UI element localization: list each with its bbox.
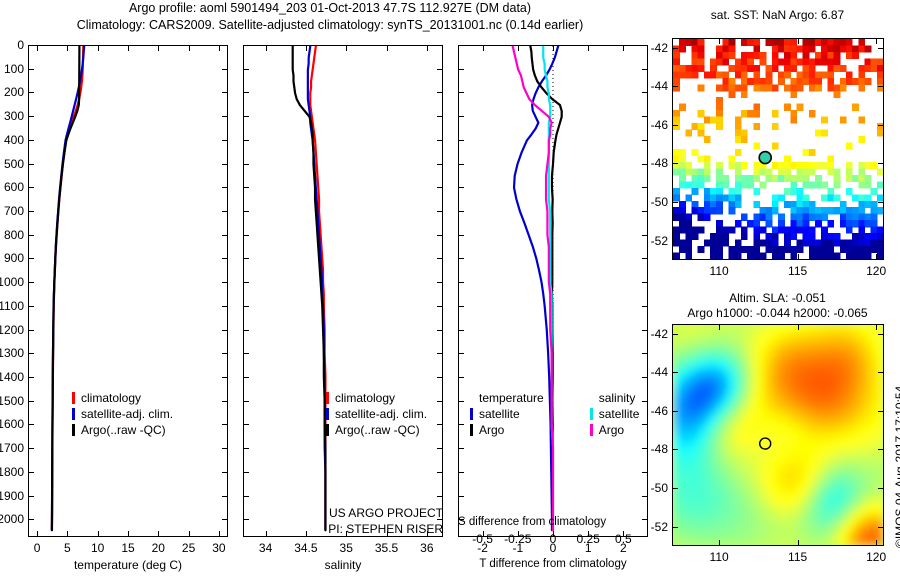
axis-tick bbox=[219, 45, 220, 51]
axis-tick-label: 34 bbox=[259, 541, 272, 555]
depth-tick bbox=[642, 69, 648, 70]
depth-tick bbox=[458, 187, 464, 188]
depth-tick bbox=[28, 330, 34, 331]
depth-tick bbox=[437, 401, 443, 402]
depth-tick bbox=[437, 69, 443, 70]
latitude-tick bbox=[672, 372, 678, 373]
latitude-tick-label: -42 bbox=[636, 41, 668, 55]
temperature-profile-panel bbox=[28, 45, 228, 537]
depth-tick bbox=[243, 472, 249, 473]
axis-tick bbox=[387, 45, 388, 51]
axis-tick bbox=[128, 531, 129, 537]
depth-tick bbox=[28, 92, 34, 93]
depth-tick bbox=[222, 69, 228, 70]
depth-tick-label: 500 bbox=[0, 157, 24, 171]
depth-tick-label: 800 bbox=[0, 228, 24, 242]
depth-tick bbox=[28, 282, 34, 283]
depth-tick bbox=[222, 116, 228, 117]
depth-tick bbox=[642, 211, 648, 212]
longitude-tick-label: 110 bbox=[710, 264, 729, 278]
depth-tick bbox=[28, 448, 34, 449]
sst-profile-marker bbox=[759, 152, 771, 164]
difference-profile-panel bbox=[458, 45, 648, 537]
depth-tick bbox=[28, 164, 34, 165]
depth-tick-label: 600 bbox=[0, 180, 24, 194]
latitude-tick bbox=[672, 241, 678, 242]
depth-tick-label: 300 bbox=[0, 109, 24, 123]
depth-tick bbox=[222, 45, 228, 46]
depth-tick-label: 1600 bbox=[0, 417, 24, 431]
depth-tick bbox=[243, 330, 249, 331]
axis-tick bbox=[98, 45, 99, 51]
longitude-tick-label: 120 bbox=[866, 264, 886, 278]
latitude-tick bbox=[878, 449, 884, 450]
axis-tick-label: 34.5 bbox=[294, 541, 317, 555]
latitude-tick-label: -48 bbox=[636, 442, 668, 456]
depth-tick bbox=[458, 69, 464, 70]
latitude-tick bbox=[672, 202, 678, 203]
latitude-tick bbox=[672, 449, 678, 450]
latitude-tick bbox=[878, 86, 884, 87]
axis-tick-label: 5 bbox=[64, 541, 71, 555]
s-axis-tick-label: 0.25 bbox=[576, 532, 599, 546]
latitude-tick-label: -52 bbox=[636, 234, 668, 248]
legend-label: Argo(..raw -QC) bbox=[335, 422, 420, 438]
sst-map-panel bbox=[672, 38, 884, 260]
axis-tick bbox=[588, 45, 589, 51]
depth-tick bbox=[437, 187, 443, 188]
salinity-profile-plot bbox=[244, 46, 442, 536]
s-axis-tick-label: 0 bbox=[550, 532, 557, 546]
axis-tick bbox=[266, 45, 267, 51]
legend-item: Argo bbox=[590, 422, 640, 438]
depth-tick bbox=[458, 116, 464, 117]
difference-legend: temperaturesatelliteArgosalinitysatellit… bbox=[470, 390, 645, 438]
latitude-tick bbox=[878, 488, 884, 489]
latitude-tick-label: -50 bbox=[636, 481, 668, 495]
axis-tick bbox=[37, 45, 38, 51]
axis-tick bbox=[346, 45, 347, 51]
s-axis-tick-label: -0.5 bbox=[472, 532, 493, 546]
longitude-tick bbox=[798, 38, 799, 44]
latitude-tick-label: -52 bbox=[636, 520, 668, 534]
legend-color-swatch bbox=[590, 424, 593, 436]
depth-tick-label: 1200 bbox=[0, 323, 24, 337]
axis-tick bbox=[553, 45, 554, 51]
depth-tick-label: 1500 bbox=[0, 394, 24, 408]
legend-label: satellite bbox=[599, 406, 640, 422]
axis-tick bbox=[37, 531, 38, 537]
depth-tick-label: 900 bbox=[0, 251, 24, 265]
legend-label: satellite-adj. clim. bbox=[81, 406, 173, 422]
s-axis-tick-label: 0.5 bbox=[615, 532, 632, 546]
t-difference-axis-label: T difference from climatology bbox=[453, 558, 653, 570]
depth-tick bbox=[642, 496, 648, 497]
latitude-tick-label: -46 bbox=[636, 404, 668, 418]
difference-profile-plot bbox=[459, 46, 647, 536]
s-difference-axis-label: S difference from climatology bbox=[458, 516, 648, 528]
depth-tick bbox=[437, 282, 443, 283]
depth-tick bbox=[222, 424, 228, 425]
temperature-profile-plot bbox=[29, 46, 227, 536]
depth-tick bbox=[28, 401, 34, 402]
axis-tick bbox=[189, 531, 190, 537]
depth-tick bbox=[222, 140, 228, 141]
longitude-tick bbox=[798, 254, 799, 260]
salinity-profile-panel bbox=[243, 45, 443, 537]
legend-column-title: salinity bbox=[599, 390, 640, 406]
longitude-tick-label: 110 bbox=[710, 550, 729, 564]
sst-map-title: sat. SST: NaN Argo: 6.87 bbox=[660, 8, 895, 23]
legend-item: Argo bbox=[470, 422, 544, 438]
legend-item: satellite bbox=[470, 406, 544, 422]
latitude-tick-label: -46 bbox=[636, 118, 668, 132]
imos-credit: ©IMOS 04-Aug-2017 17:10:54 bbox=[893, 386, 900, 548]
depth-tick bbox=[642, 353, 648, 354]
depth-tick bbox=[222, 164, 228, 165]
latitude-tick bbox=[672, 527, 678, 528]
axis-tick bbox=[67, 45, 68, 51]
depth-tick bbox=[458, 92, 464, 93]
depth-tick bbox=[243, 116, 249, 117]
sla-map-title-line1: Altim. SLA: -0.051 bbox=[660, 291, 895, 306]
axis-tick bbox=[158, 45, 159, 51]
longitude-tick bbox=[719, 254, 720, 260]
sla-map-title-line2: Argo h1000: -0.044 h2000: -0.065 bbox=[660, 306, 895, 321]
depth-tick bbox=[437, 377, 443, 378]
depth-tick-label: 1900 bbox=[0, 489, 24, 503]
axis-tick-label: 0 bbox=[34, 541, 41, 555]
depth-tick bbox=[437, 472, 443, 473]
axis-tick bbox=[518, 45, 519, 51]
latitude-tick bbox=[878, 372, 884, 373]
depth-tick bbox=[222, 235, 228, 236]
legend-column: salinitysatelliteArgo bbox=[590, 390, 640, 438]
latitude-tick-label: -50 bbox=[636, 195, 668, 209]
depth-tick-label: 200 bbox=[0, 85, 24, 99]
legend-color-swatch bbox=[470, 424, 473, 436]
longitude-tick bbox=[719, 38, 720, 44]
depth-tick bbox=[28, 116, 34, 117]
depth-tick-label: 2000 bbox=[0, 512, 24, 526]
legend-color-swatch bbox=[470, 408, 473, 420]
axis-tick-label: 25 bbox=[182, 541, 195, 555]
longitude-tick-label: 120 bbox=[866, 550, 886, 564]
latitude-tick-label: -42 bbox=[636, 327, 668, 341]
longitude-tick bbox=[876, 38, 877, 44]
depth-tick-label: 100 bbox=[0, 62, 24, 76]
depth-tick bbox=[437, 496, 443, 497]
depth-tick bbox=[243, 496, 249, 497]
legend-item: Argo(..raw -QC) bbox=[326, 422, 427, 438]
longitude-tick-label: 115 bbox=[788, 550, 807, 564]
legend-color-swatch bbox=[72, 408, 75, 420]
longitude-tick bbox=[876, 254, 877, 260]
page-title-line1: Argo profile: aoml 5901494_203 01-Oct-20… bbox=[0, 0, 660, 17]
depth-tick bbox=[458, 164, 464, 165]
latitude-tick bbox=[878, 411, 884, 412]
salinity-axis-label: salinity bbox=[243, 558, 443, 572]
depth-tick bbox=[243, 211, 249, 212]
depth-tick bbox=[28, 45, 34, 46]
legend-column-title: temperature bbox=[479, 390, 544, 406]
depth-tick bbox=[243, 140, 249, 141]
depth-tick bbox=[28, 235, 34, 236]
depth-tick-label: 1100 bbox=[0, 299, 24, 313]
depth-tick bbox=[437, 330, 443, 331]
depth-tick bbox=[458, 211, 464, 212]
depth-tick bbox=[642, 187, 648, 188]
depth-tick bbox=[222, 472, 228, 473]
depth-tick bbox=[243, 377, 249, 378]
depth-tick bbox=[437, 353, 443, 354]
legend-item: satellite-adj. clim. bbox=[72, 406, 173, 422]
axis-tick bbox=[306, 45, 307, 51]
depth-tick bbox=[243, 69, 249, 70]
longitude-tick bbox=[719, 324, 720, 330]
latitude-tick bbox=[672, 48, 678, 49]
legend-label: satellite bbox=[479, 406, 520, 422]
depth-tick bbox=[222, 519, 228, 520]
axis-tick bbox=[67, 531, 68, 537]
depth-tick bbox=[437, 211, 443, 212]
legend-color-swatch bbox=[72, 392, 75, 404]
axis-tick bbox=[623, 45, 624, 51]
longitude-tick bbox=[876, 324, 877, 330]
depth-tick bbox=[243, 235, 249, 236]
depth-tick bbox=[458, 496, 464, 497]
depth-tick bbox=[243, 92, 249, 93]
legend-color-swatch bbox=[326, 424, 329, 436]
depth-tick bbox=[458, 401, 464, 402]
legend-item: Argo(..raw -QC) bbox=[72, 422, 173, 438]
sla-map-panel bbox=[672, 324, 884, 546]
depth-tick bbox=[222, 282, 228, 283]
latitude-tick bbox=[672, 411, 678, 412]
legend-color-swatch bbox=[590, 408, 593, 420]
latitude-tick bbox=[878, 527, 884, 528]
legend-color-swatch bbox=[326, 408, 329, 420]
depth-tick bbox=[458, 258, 464, 259]
depth-tick bbox=[458, 353, 464, 354]
depth-tick bbox=[458, 235, 464, 236]
legend-item: climatology bbox=[326, 390, 427, 406]
axis-tick bbox=[427, 45, 428, 51]
salinity-legend: climatologysatellite-adj. clim.Argo(..ra… bbox=[326, 390, 427, 438]
latitude-tick bbox=[878, 202, 884, 203]
depth-tick bbox=[243, 164, 249, 165]
latitude-tick bbox=[672, 488, 678, 489]
depth-tick bbox=[28, 211, 34, 212]
depth-tick bbox=[458, 472, 464, 473]
depth-tick-label: 1400 bbox=[0, 370, 24, 384]
latitude-tick bbox=[878, 48, 884, 49]
axis-tick-label: 35.5 bbox=[375, 541, 398, 555]
page-title-line2: Climatology: CARS2009. Satellite-adjuste… bbox=[0, 17, 660, 34]
latitude-tick bbox=[672, 125, 678, 126]
depth-tick-label: 1700 bbox=[0, 441, 24, 455]
depth-tick bbox=[458, 282, 464, 283]
latitude-tick-label: -44 bbox=[636, 79, 668, 93]
depth-tick bbox=[28, 140, 34, 141]
depth-tick bbox=[437, 258, 443, 259]
legend-column: temperaturesatelliteArgo bbox=[470, 390, 544, 438]
depth-tick bbox=[437, 140, 443, 141]
latitude-tick bbox=[672, 163, 678, 164]
depth-tick bbox=[437, 448, 443, 449]
depth-tick bbox=[243, 353, 249, 354]
depth-tick-label: 0 bbox=[0, 38, 24, 52]
axis-tick-label: 10 bbox=[91, 541, 104, 555]
legend-color-swatch bbox=[72, 424, 75, 436]
depth-tick bbox=[437, 306, 443, 307]
latitude-tick-label: -44 bbox=[636, 365, 668, 379]
depth-tick-label: 700 bbox=[0, 204, 24, 218]
depth-tick bbox=[243, 448, 249, 449]
depth-tick bbox=[28, 187, 34, 188]
depth-tick bbox=[642, 282, 648, 283]
legend-label: satellite-adj. clim. bbox=[335, 406, 427, 422]
depth-tick bbox=[642, 258, 648, 259]
longitude-tick bbox=[798, 324, 799, 330]
legend-color-swatch bbox=[326, 392, 329, 404]
sla-map-plot bbox=[673, 325, 883, 545]
depth-tick bbox=[437, 424, 443, 425]
axis-tick bbox=[158, 531, 159, 537]
depth-tick bbox=[222, 306, 228, 307]
depth-tick bbox=[222, 448, 228, 449]
latitude-tick bbox=[878, 125, 884, 126]
depth-tick-label: 400 bbox=[0, 133, 24, 147]
depth-tick bbox=[243, 258, 249, 259]
longitude-tick bbox=[798, 540, 799, 546]
depth-tick bbox=[437, 92, 443, 93]
latitude-tick bbox=[878, 334, 884, 335]
depth-tick bbox=[437, 164, 443, 165]
s-axis-tick-label: -0.25 bbox=[504, 532, 531, 546]
depth-tick bbox=[243, 424, 249, 425]
depth-tick bbox=[28, 353, 34, 354]
temperature-legend: climatologysatellite-adj. clim.Argo(..ra… bbox=[72, 390, 173, 438]
depth-tick bbox=[243, 282, 249, 283]
axis-tick-label: 36 bbox=[420, 541, 433, 555]
depth-tick bbox=[458, 306, 464, 307]
depth-tick bbox=[28, 69, 34, 70]
latitude-tick bbox=[878, 163, 884, 164]
depth-tick bbox=[437, 235, 443, 236]
depth-tick bbox=[28, 424, 34, 425]
legend-item: climatology bbox=[72, 390, 173, 406]
axis-tick-label: 20 bbox=[152, 541, 165, 555]
depth-tick bbox=[437, 45, 443, 46]
axis-tick-label: 15 bbox=[121, 541, 134, 555]
depth-tick bbox=[28, 258, 34, 259]
depth-tick bbox=[458, 45, 464, 46]
latitude-tick-label: -48 bbox=[636, 156, 668, 170]
depth-tick bbox=[642, 140, 648, 141]
legend-label: Argo bbox=[479, 422, 504, 438]
latitude-tick bbox=[672, 86, 678, 87]
depth-tick bbox=[222, 92, 228, 93]
depth-tick bbox=[458, 330, 464, 331]
sst-map-plot bbox=[673, 39, 883, 259]
depth-tick bbox=[458, 140, 464, 141]
legend-item: satellite-adj. clim. bbox=[326, 406, 427, 422]
depth-tick bbox=[28, 472, 34, 473]
depth-tick bbox=[222, 211, 228, 212]
project-credit-org: US ARGO PROJECT bbox=[243, 505, 443, 521]
sla-map-title: Altim. SLA: -0.051 Argo h1000: -0.044 h2… bbox=[660, 291, 895, 321]
depth-tick bbox=[222, 353, 228, 354]
depth-tick bbox=[458, 377, 464, 378]
depth-tick bbox=[437, 116, 443, 117]
legend-label: Argo(..raw -QC) bbox=[81, 422, 166, 438]
depth-tick bbox=[458, 448, 464, 449]
axis-tick bbox=[219, 531, 220, 537]
depth-tick bbox=[28, 377, 34, 378]
longitude-tick-label: 115 bbox=[788, 264, 807, 278]
depth-tick bbox=[222, 258, 228, 259]
depth-tick bbox=[243, 306, 249, 307]
depth-tick bbox=[222, 377, 228, 378]
legend-label: climatology bbox=[81, 390, 141, 406]
axis-tick bbox=[483, 45, 484, 51]
depth-tick bbox=[222, 401, 228, 402]
depth-tick bbox=[243, 401, 249, 402]
axis-tick-label: 35 bbox=[340, 541, 353, 555]
project-credit: US ARGO PROJECT PI: STEPHEN RISER bbox=[243, 505, 443, 537]
depth-tick bbox=[222, 496, 228, 497]
depth-tick bbox=[28, 496, 34, 497]
depth-tick bbox=[458, 424, 464, 425]
temperature-axis-label: temperature (deg C) bbox=[28, 558, 228, 572]
axis-tick-label: 30 bbox=[212, 541, 225, 555]
depth-tick bbox=[642, 472, 648, 473]
longitude-tick bbox=[719, 540, 720, 546]
page-title: Argo profile: aoml 5901494_203 01-Oct-20… bbox=[0, 0, 660, 34]
depth-tick bbox=[243, 187, 249, 188]
axis-tick bbox=[189, 45, 190, 51]
latitude-tick bbox=[878, 241, 884, 242]
latitude-tick bbox=[672, 334, 678, 335]
legend-label: Argo bbox=[599, 422, 624, 438]
depth-tick bbox=[243, 45, 249, 46]
depth-tick bbox=[28, 306, 34, 307]
project-credit-pi: PI: STEPHEN RISER bbox=[243, 521, 443, 537]
legend-item: satellite bbox=[590, 406, 640, 422]
depth-tick-label: 1800 bbox=[0, 465, 24, 479]
depth-tick bbox=[222, 330, 228, 331]
axis-tick bbox=[98, 531, 99, 537]
depth-tick-label: 1000 bbox=[0, 275, 24, 289]
depth-tick bbox=[28, 519, 34, 520]
axis-tick bbox=[128, 45, 129, 51]
longitude-tick bbox=[876, 540, 877, 546]
depth-tick-label: 1300 bbox=[0, 346, 24, 360]
depth-tick bbox=[222, 187, 228, 188]
depth-tick bbox=[642, 306, 648, 307]
legend-label: climatology bbox=[335, 390, 395, 406]
